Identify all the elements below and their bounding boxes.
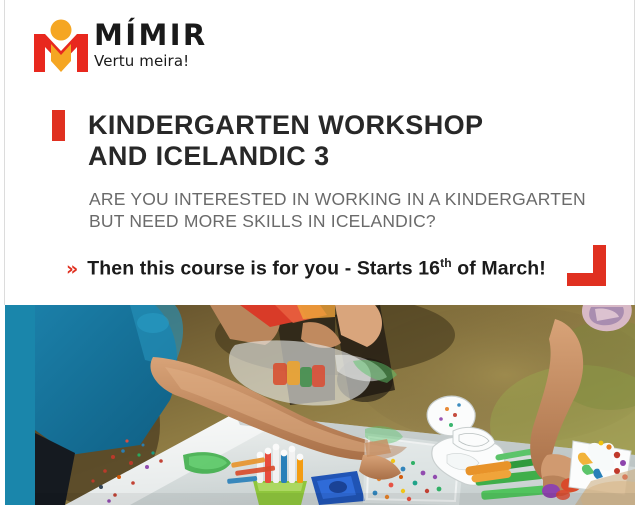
cta-text-before: Then this course is for you - Starts 16: [87, 258, 440, 280]
classroom-craft-photo: [35, 305, 635, 505]
mimir-logo[interactable]: MÍMIR Vertu meira!: [34, 17, 204, 75]
page-title: KINDERGARTEN WORKSHOP AND ICELANDIC 3: [88, 110, 608, 172]
call-to-action[interactable]: » Then this course is for you - Starts 1…: [66, 252, 546, 281]
headline-line-2: AND ICELANDIC 3: [88, 141, 608, 172]
headline-accent-bar: [52, 110, 65, 141]
course-promo-banner: MÍMIR Vertu meira! KINDERGARTEN WORKSHOP…: [0, 0, 640, 505]
card-right-border: [634, 0, 635, 305]
card-left-border: [4, 0, 5, 305]
brand-name: MÍMIR: [94, 19, 208, 51]
subhead-line-2: BUT NEED MORE SKILLS IN ICELANDIC?: [89, 210, 599, 232]
subheading: ARE YOU INTERESTED IN WORKING IN A KINDE…: [89, 188, 599, 232]
mimir-wordmark: MÍMIR Vertu meira!: [94, 19, 208, 71]
headline-line-1: KINDERGARTEN WORKSHOP: [88, 110, 483, 140]
red-corner-bracket-decoration: [567, 245, 606, 286]
cta-text: Then this course is for you - Starts 16t…: [87, 252, 546, 281]
brand-tagline: Vertu meira!: [94, 52, 208, 71]
double-chevron-right-icon: »: [66, 258, 78, 280]
cta-ordinal-suffix: th: [440, 256, 452, 270]
cta-text-after: of March!: [452, 258, 546, 280]
subhead-line-1: ARE YOU INTERESTED IN WORKING IN A KINDE…: [89, 189, 586, 209]
mimir-m-figure-logo-icon: [34, 17, 88, 75]
teal-accent-bar: [5, 305, 35, 505]
bracket-horizontal-segment: [567, 273, 606, 286]
